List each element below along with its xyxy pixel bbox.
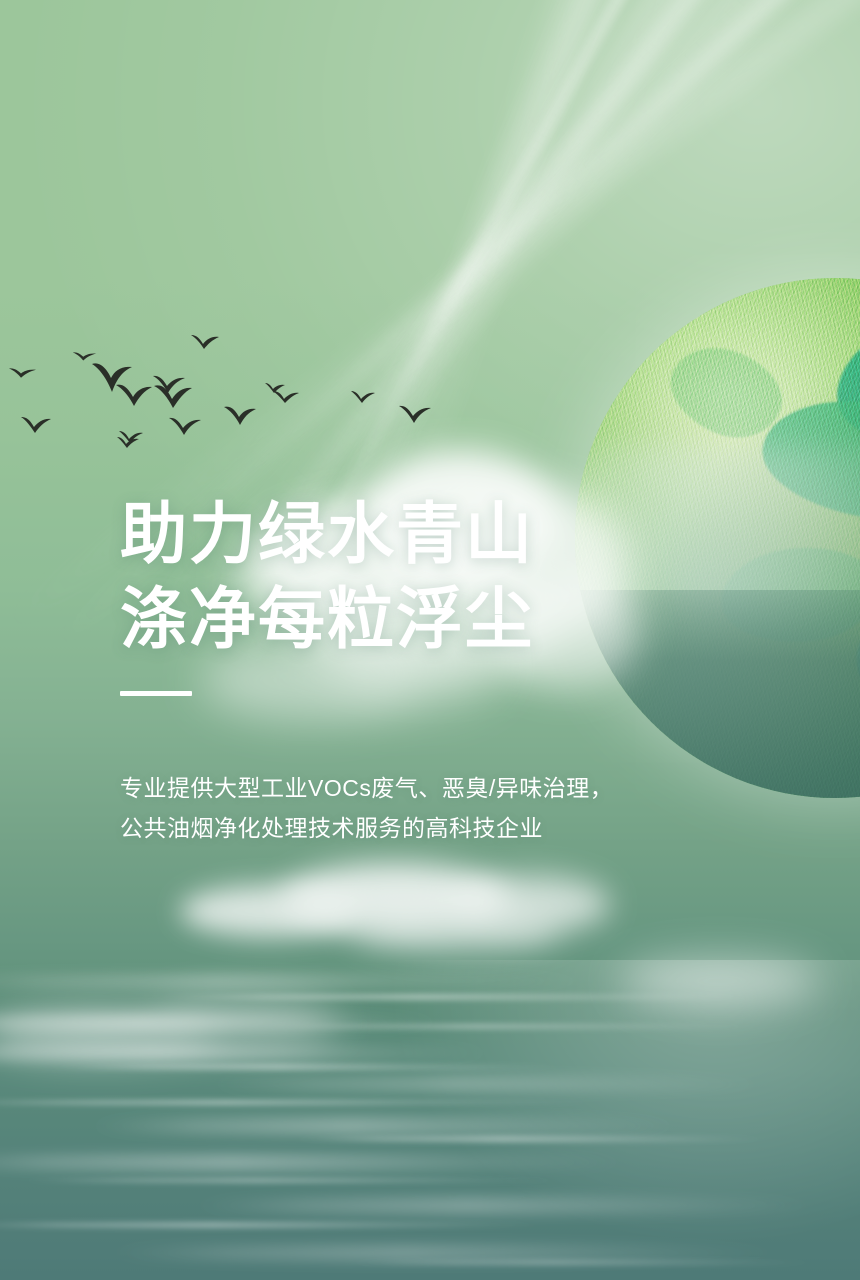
headline-line-1: 助力绿水青山 bbox=[120, 492, 534, 577]
headline-line-2: 涤净每粒浮尘 bbox=[120, 577, 534, 662]
bird-icon bbox=[114, 380, 154, 408]
subtitle-line-2: 公共油烟净化处理技术服务的高科技企业 bbox=[120, 808, 613, 848]
earth-globe-icon bbox=[575, 278, 860, 798]
water-wave bbox=[52, 1064, 568, 1070]
water-wave bbox=[189, 1198, 825, 1213]
bird-icon bbox=[20, 414, 52, 434]
bird-icon bbox=[168, 414, 202, 436]
bird-icon bbox=[398, 402, 432, 424]
subtitle: 专业提供大型工业VOCs废气、恶臭/异味治理， 公共油烟净化处理技术服务的高科技… bbox=[120, 768, 613, 848]
bird-icon bbox=[8, 366, 38, 386]
water-wave bbox=[258, 1024, 757, 1029]
subtitle-line-1: 专业提供大型工业VOCs废气、恶臭/异味治理， bbox=[120, 768, 613, 808]
water-wave bbox=[103, 1246, 791, 1260]
bird-icon bbox=[116, 434, 140, 449]
water-wave bbox=[292, 1136, 774, 1142]
bird-icon bbox=[272, 388, 300, 404]
water-wave bbox=[86, 1118, 688, 1134]
water-wave bbox=[17, 1178, 567, 1183]
bird-icon bbox=[350, 388, 376, 404]
water-wave bbox=[206, 1078, 774, 1090]
bird-icon bbox=[190, 332, 220, 350]
bird-icon bbox=[222, 402, 258, 426]
bird-icon bbox=[152, 380, 194, 410]
globe-submerged-overlay bbox=[575, 590, 860, 798]
title-divider bbox=[120, 691, 192, 696]
water-wave bbox=[344, 1260, 826, 1265]
water-surface bbox=[0, 960, 860, 1280]
eco-promo-banner: 助力绿水青山 涤净每粒浮尘 专业提供大型工业VOCs废气、恶臭/异味治理， 公共… bbox=[0, 0, 860, 1280]
page-title: 助力绿水青山 涤净每粒浮尘 bbox=[120, 492, 534, 662]
water-wave bbox=[155, 994, 757, 1000]
bird-flock bbox=[0, 330, 470, 460]
